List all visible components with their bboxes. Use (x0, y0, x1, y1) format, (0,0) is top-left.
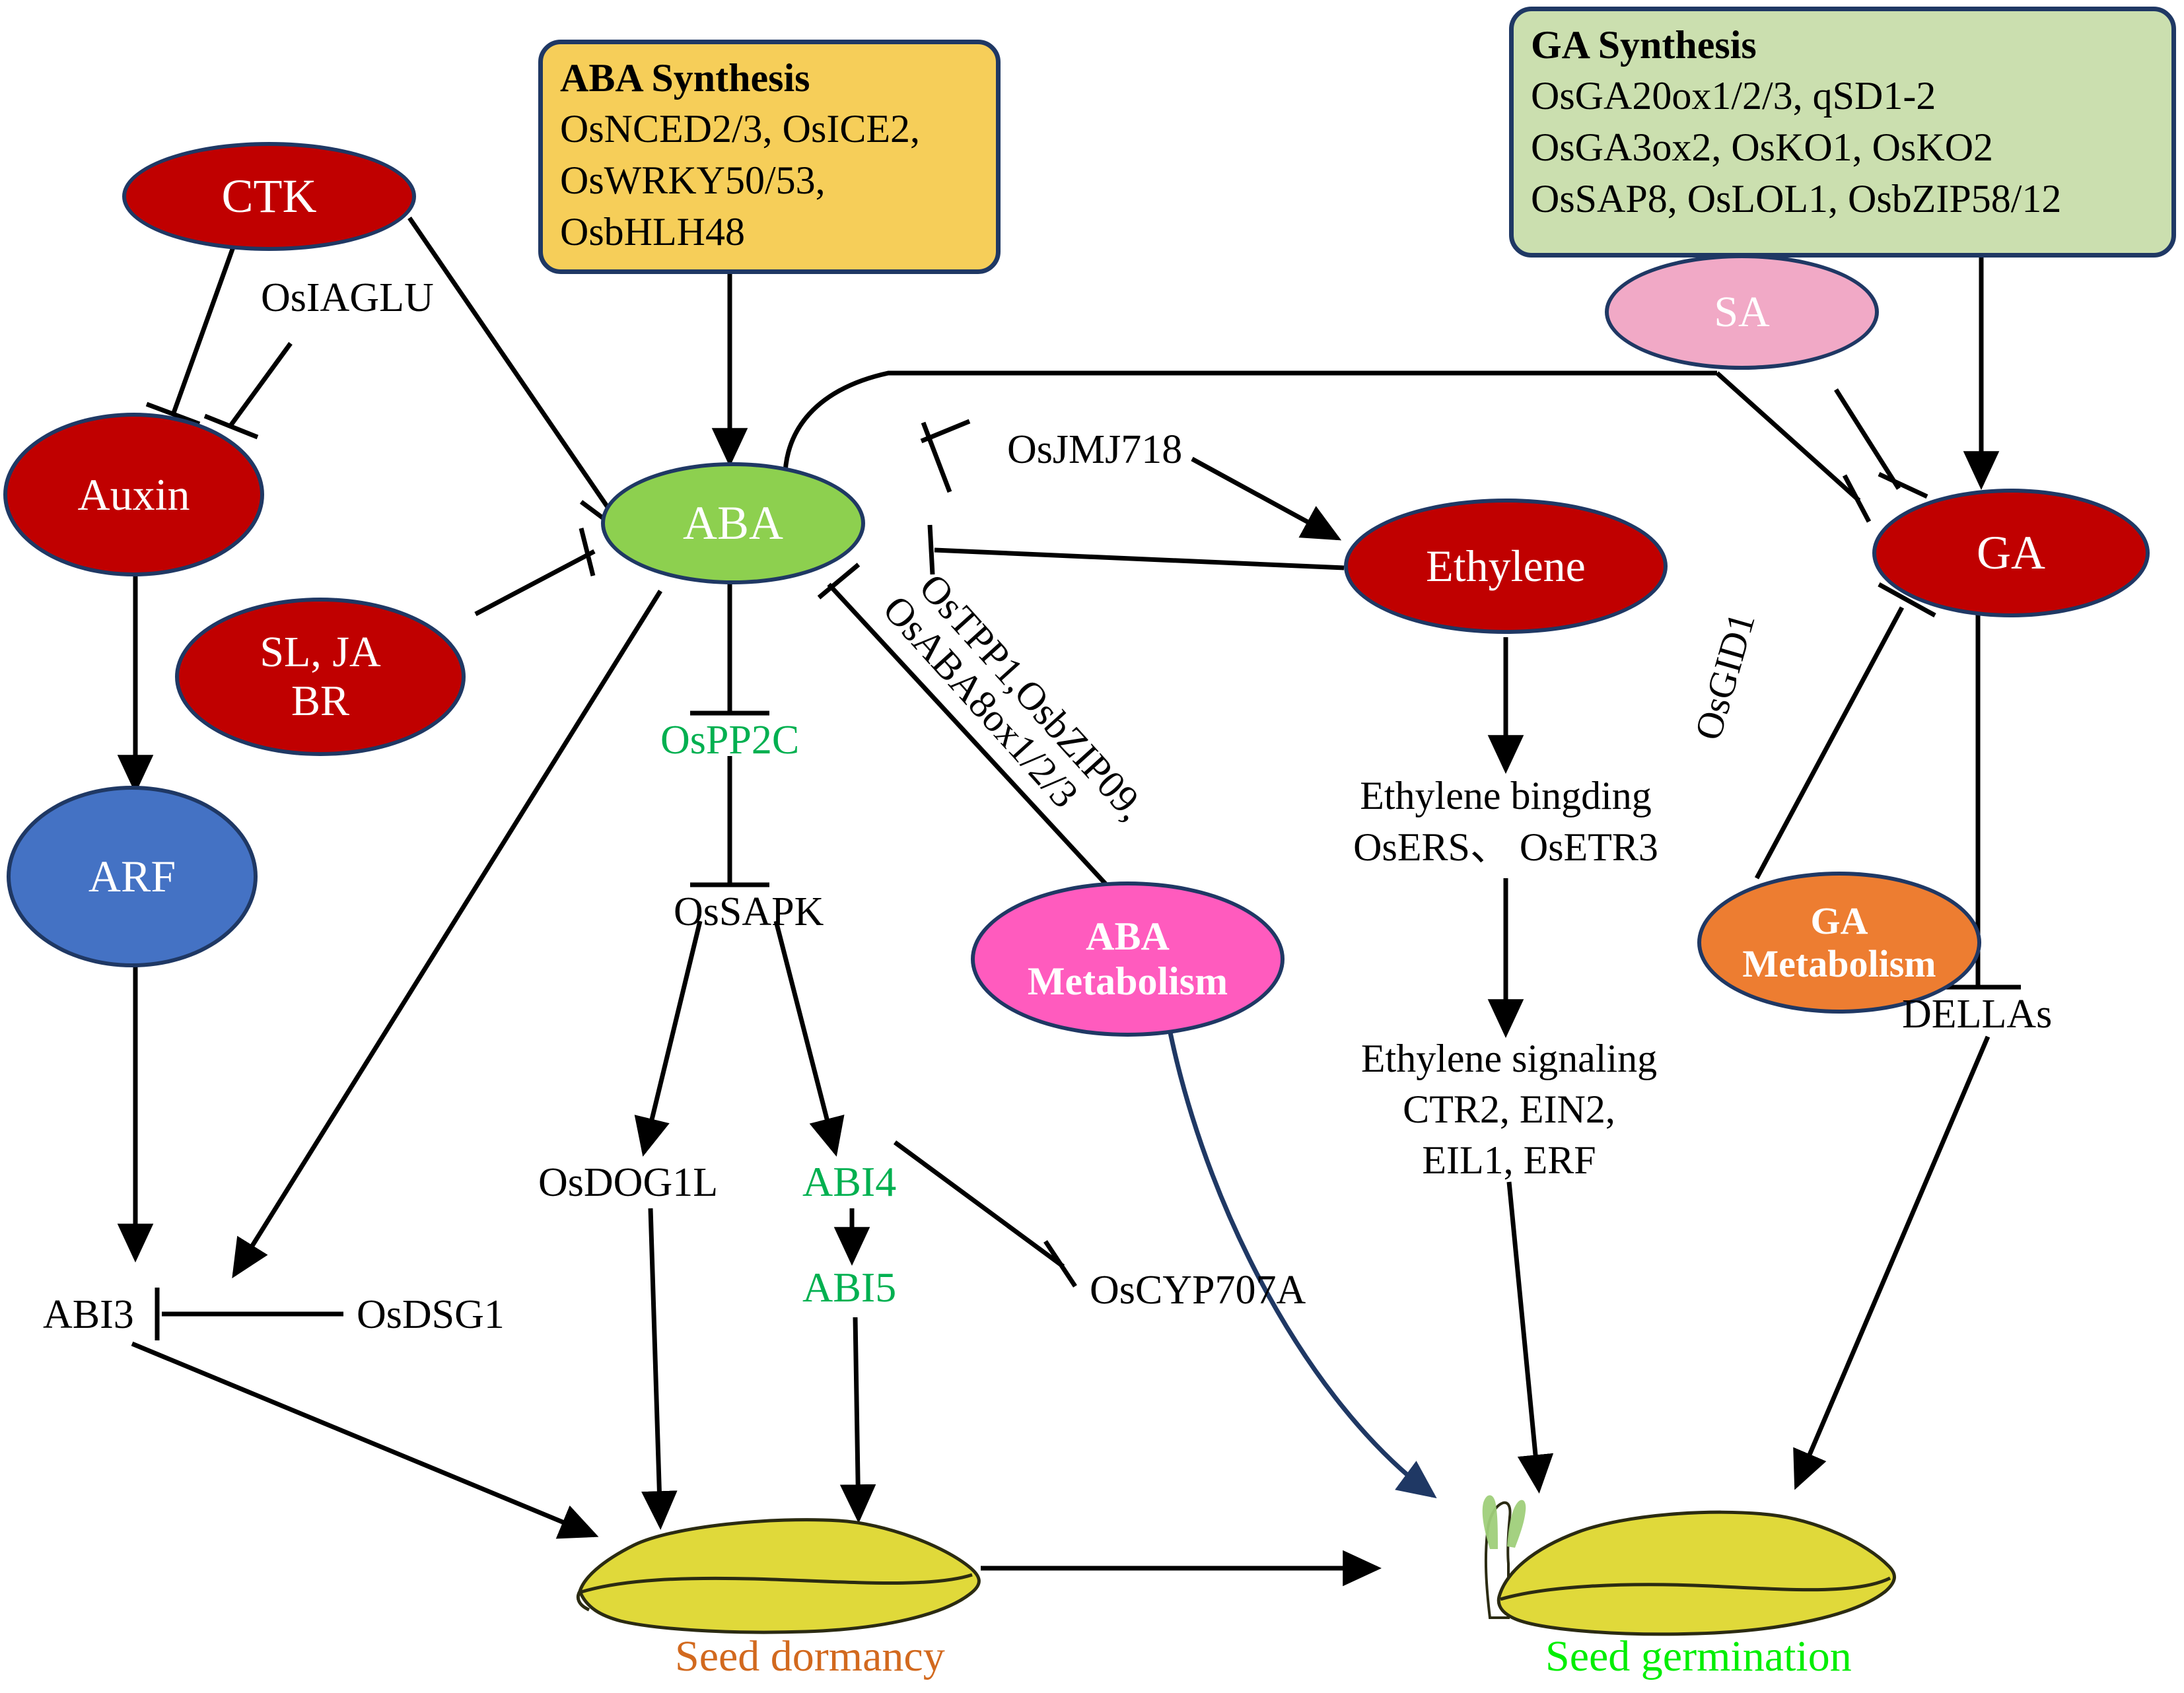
aba-synthesis-line-3: OsbHLH48 (560, 206, 979, 258)
node-ctk-label: CTK (222, 170, 317, 223)
label-osdsg1: OsDSG1 (357, 1291, 505, 1339)
node-sl-ja-br-label-line2: BR (291, 677, 349, 726)
label-ospp2c: OsPP2C (660, 716, 799, 765)
label-seed-germination: Seed germination (1545, 1631, 1852, 1682)
edge-ossapk-to-osdog1l (644, 921, 700, 1152)
label-abi3: ABI3 (43, 1291, 134, 1339)
label-osgid1: OsGID1 (1685, 608, 1765, 745)
node-ethylene-label: Ethylene (1426, 541, 1586, 591)
ga-synthesis-line-2: OsGA3ox2, OsKO1, OsKO2 (1531, 121, 2154, 173)
edge-osiaglu-inhibits-auxin (230, 343, 291, 427)
edge-feedback-curve-to-aba (785, 373, 1717, 492)
aba-synthesis-box[interactable]: ABA Synthesis OsNCED2/3, OsICE2, OsWRKY5… (538, 40, 1001, 274)
label-osiaglu: OsIAGLU (261, 274, 434, 322)
node-aba-metabolism-line2: Metabolism (1028, 959, 1228, 1004)
edge-gametabolism-inhibits-ga (1757, 607, 1902, 878)
node-ctk[interactable]: CTK (122, 142, 416, 251)
edge-signaling-to-germination (1509, 1182, 1539, 1489)
label-osjmj718: OsJMJ718 (1007, 426, 1182, 474)
node-auxin[interactable]: Auxin (3, 413, 264, 576)
seed-dormancy-graphic (575, 1515, 991, 1634)
ga-synthesis-line-3: OsSAP8, OsLOL1, OsbZIP58/12 (1531, 173, 2154, 225)
edge-abi3-to-dormancy (132, 1344, 594, 1535)
label-ethylene-binding-line1: Ethylene bingding (1334, 773, 1677, 819)
node-auxin-label: Auxin (78, 469, 190, 520)
label-abi4: ABI4 (802, 1157, 896, 1207)
node-aba-metabolism[interactable]: ABA Metabolism (971, 881, 1285, 1037)
node-ga-metabolism-line1: GA (1811, 900, 1868, 943)
edge-osdog1l-to-dormancy (651, 1208, 660, 1525)
label-dellas: DELLAs (1902, 990, 2052, 1039)
seed-germination-graphic (1427, 1486, 1902, 1638)
node-sl-ja-br-label-line1: SL, JA (260, 628, 380, 677)
edge-dellas-to-germination (1796, 1037, 1988, 1486)
aba-synthesis-line-2: OsWRKY50/53, (560, 155, 979, 206)
label-ethylene-signaling-line2: CTR2, EIN2, (1337, 1086, 1681, 1133)
node-aba-metabolism-line1: ABA (1086, 915, 1170, 959)
edge-aba-ethylene-link (934, 550, 1344, 568)
label-ossapk: OsSAPK (674, 888, 824, 936)
edge-osjmj718-to-ethylene (1192, 459, 1337, 538)
node-arf-label: ARF (88, 851, 176, 901)
edge-abi5-to-dormancy (855, 1317, 859, 1519)
node-aba-label: ABA (683, 497, 783, 550)
node-arf[interactable]: ARF (7, 786, 258, 967)
aba-synthesis-line-1: OsNCED2/3, OsICE2, (560, 103, 979, 155)
node-ethylene[interactable]: Ethylene (1344, 499, 1668, 634)
node-sa[interactable]: SA (1605, 254, 1879, 370)
label-seed-dormancy: Seed dormancy (675, 1631, 945, 1682)
edge-ossapk-to-abi4 (776, 921, 835, 1152)
ga-synthesis-line-1: OsGA20ox1/2/3, qSD1-2 (1531, 70, 2154, 121)
aba-synthesis-title: ABA Synthesis (560, 53, 979, 103)
label-ethylene-signaling-line1: Ethylene signaling (1337, 1035, 1681, 1082)
label-abi5: ABI5 (802, 1262, 896, 1313)
edge-sa-inhibits-ga (1836, 390, 1899, 489)
edge-curve-to-ga (1717, 373, 1859, 501)
edge-abi4-inhibits-oscyp707a (895, 1142, 1063, 1266)
node-ga-label: GA (1977, 526, 2045, 580)
node-sl-ja-br[interactable]: SL, JA BR (175, 598, 466, 756)
node-ga[interactable]: GA (1872, 489, 2150, 617)
edge-osjmj718-inhibit-stem (923, 423, 950, 492)
ga-synthesis-box[interactable]: GA Synthesis OsGA20ox1/2/3, qSD1-2 OsGA3… (1509, 7, 2176, 258)
label-ethylene-binding-line2: OsERS、 OsETR3 (1321, 824, 1691, 871)
node-ga-metabolism-line2: Metabolism (1742, 943, 1936, 986)
ga-synthesis-title: GA Synthesis (1531, 20, 2154, 70)
label-oscyp707a: OsCYP707A (1090, 1266, 1306, 1315)
label-osdog1l: OsDOG1L (538, 1159, 718, 1207)
edge-sljabr-inhibits-aba (476, 551, 594, 614)
edge-ctk-inhibits-auxin (173, 234, 238, 415)
node-aba[interactable]: ABA (601, 462, 865, 584)
label-ethylene-signaling-line3: EIL1, ERF (1337, 1137, 1681, 1184)
pathway-diagram-canvas: ABA Synthesis OsNCED2/3, OsICE2, OsWRKY5… (0, 0, 2184, 1693)
node-sa-label: SA (1714, 288, 1769, 337)
